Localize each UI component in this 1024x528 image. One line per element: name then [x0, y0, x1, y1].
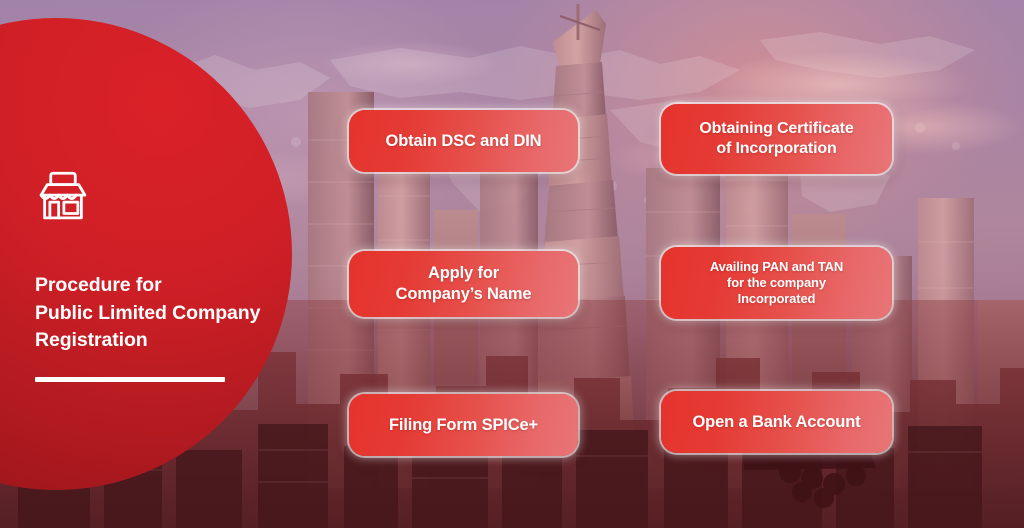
infographic-canvas: Procedure for Public Limited Company Reg…: [0, 0, 1024, 528]
step-box-open-a-bank-account[interactable]: Open a Bank Account: [661, 391, 892, 453]
step-label: Open a Bank Account: [693, 412, 861, 433]
step-box-apply-for-company-name[interactable]: Apply for Company’s Name: [349, 251, 578, 317]
steps-container: Obtain DSC and DIN Apply for Company’s N…: [0, 0, 1024, 528]
step-label: Filing Form SPICe+: [389, 415, 538, 436]
step-label: Obtaining Certificate of Incorporation: [699, 119, 853, 159]
step-label: Apply for Company’s Name: [396, 263, 532, 304]
step-box-obtain-dsc-and-din[interactable]: Obtain DSC and DIN: [349, 110, 578, 172]
step-box-obtaining-certificate-of-incorporation[interactable]: Obtaining Certificate of Incorporation: [661, 104, 892, 174]
step-label: Availing PAN and TAN for the company Inc…: [710, 259, 843, 308]
step-box-filing-form-spice-plus[interactable]: Filing Form SPICe+: [349, 394, 578, 456]
step-label: Obtain DSC and DIN: [386, 131, 542, 152]
step-box-availing-pan-and-tan[interactable]: Availing PAN and TAN for the company Inc…: [661, 247, 892, 319]
